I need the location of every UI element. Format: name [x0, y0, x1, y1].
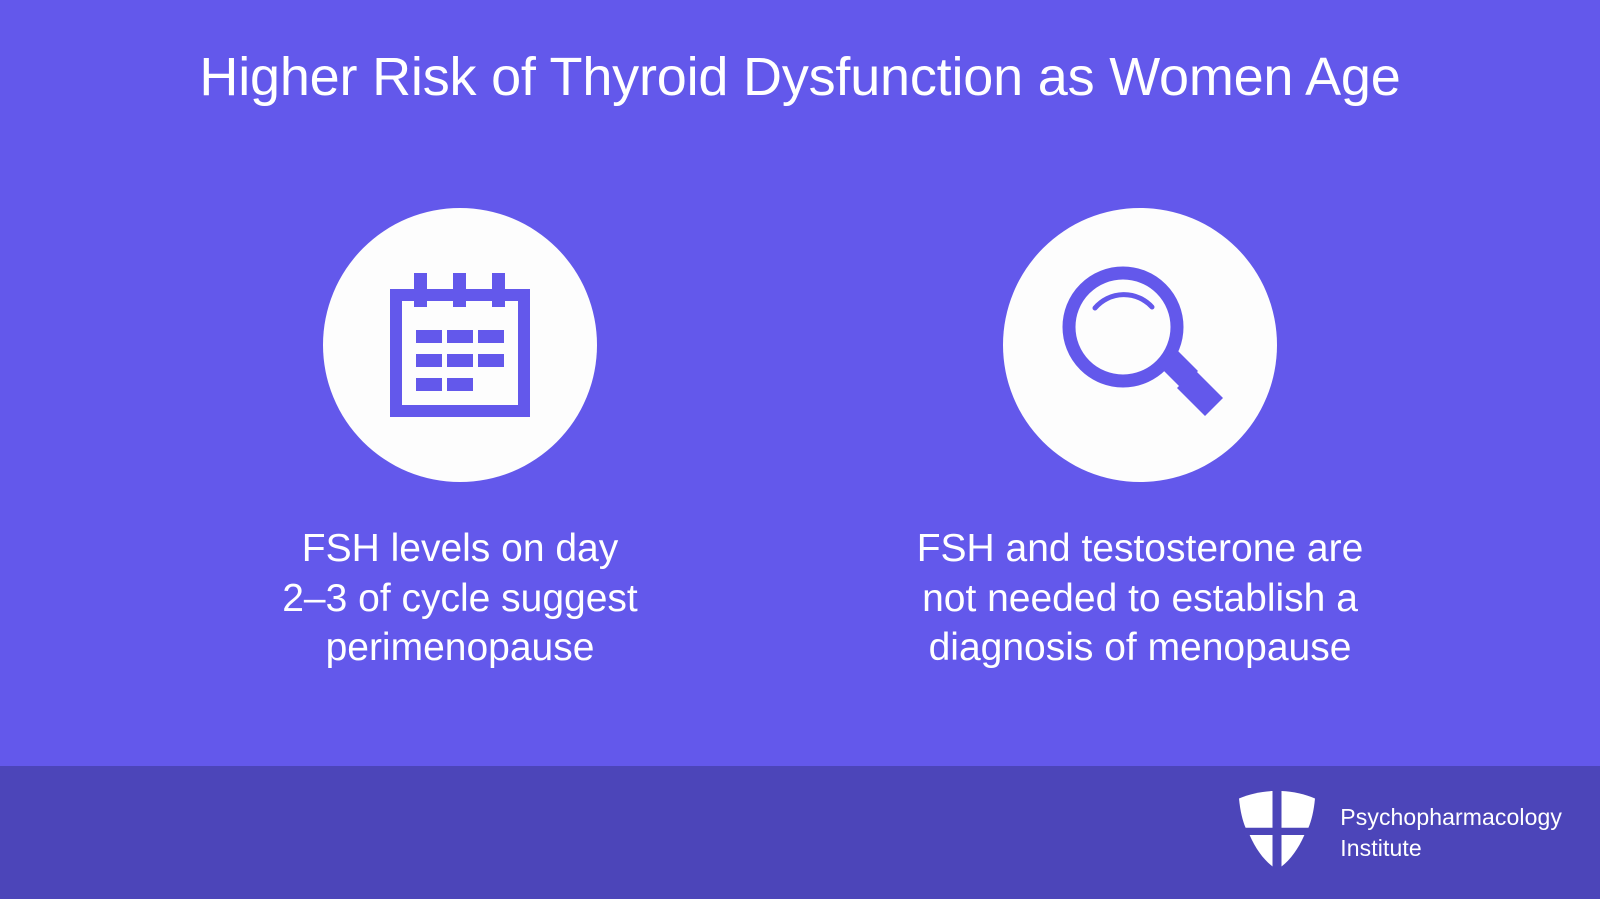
column-calendar: FSH levels on day 2–3 of cycle suggest p…	[220, 208, 700, 673]
page-title: Higher Risk of Thyroid Dysfunction as Wo…	[0, 46, 1600, 108]
brand-name: Psychopharmacology Institute	[1340, 802, 1562, 863]
brand-name-line2: Institute	[1340, 833, 1562, 863]
shield-icon	[1236, 788, 1318, 877]
caption-magnifier: FSH and testosterone are not needed to e…	[917, 524, 1364, 673]
calendar-icon	[390, 273, 530, 417]
slide-canvas: Higher Risk of Thyroid Dysfunction as Wo…	[0, 0, 1600, 899]
icon-circle-calendar	[323, 208, 597, 482]
column-magnifier: FSH and testosterone are not needed to e…	[900, 208, 1380, 673]
brand-name-line1: Psychopharmacology	[1340, 802, 1562, 832]
footer-bar: Psychopharmacology Institute	[0, 766, 1600, 899]
magnifying-glass-icon	[1055, 261, 1225, 429]
icon-circle-magnifier	[1003, 208, 1277, 482]
caption-calendar: FSH levels on day 2–3 of cycle suggest p…	[282, 524, 638, 673]
brand-logo: Psychopharmacology Institute	[1236, 766, 1562, 899]
content-columns: FSH levels on day 2–3 of cycle suggest p…	[0, 208, 1600, 688]
